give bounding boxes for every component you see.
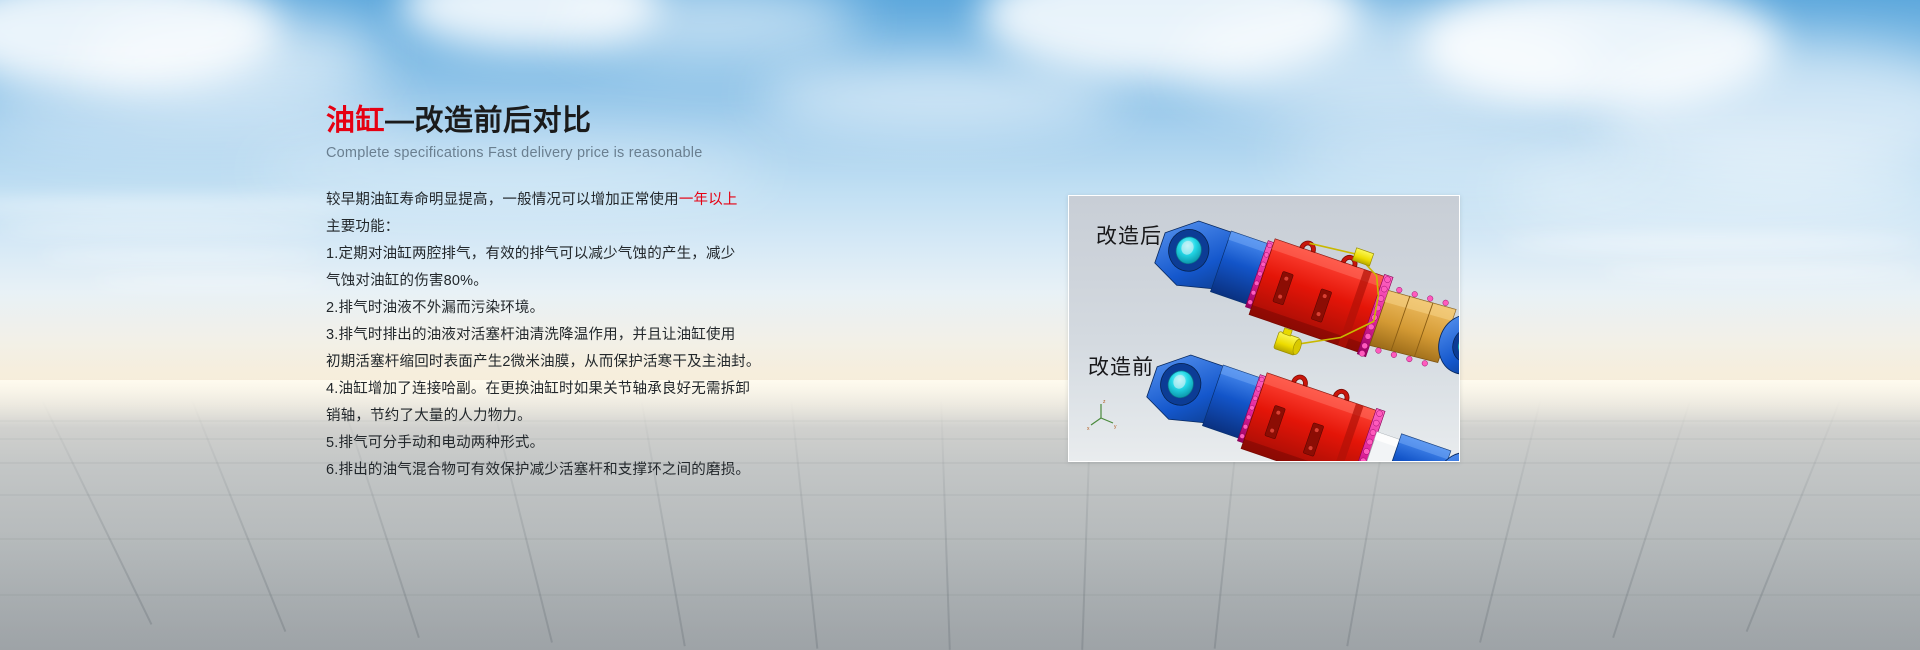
- banner-text-block: 油缸—改造前后对比 Complete specifications Fast d…: [326, 104, 846, 484]
- plaza-ground: [0, 380, 1920, 650]
- product-image-panel[interactable]: z x y 改造后 改造前: [1068, 195, 1460, 462]
- functions-heading: 主要功能：: [326, 214, 846, 241]
- feature-description: 较早期油缸寿命明显提高，一般情况可以增加正常使用一年以上 主要功能： 1.定期对…: [326, 187, 846, 484]
- list-item-cont: 销轴，节约了大量的人力物力。: [326, 403, 846, 430]
- intro-line: 较早期油缸寿命明显提高，一般情况可以增加正常使用一年以上: [326, 187, 846, 214]
- tile-line-horizontal: [0, 420, 1920, 422]
- list-item: 3.排气时排出的油液对活塞杆油清洗降温作用，并且让油缸使用: [326, 322, 846, 349]
- label-before-modification: 改造前: [1088, 351, 1154, 381]
- svg-text:z: z: [1103, 399, 1106, 405]
- svg-text:x: x: [1087, 426, 1090, 432]
- page-title-highlight: 油缸: [326, 105, 385, 137]
- page-title-rest: —改造前后对比: [385, 105, 592, 137]
- banner-stage: 油缸—改造前后对比 Complete specifications Fast d…: [0, 0, 1920, 650]
- intro-highlight: 一年以上: [679, 192, 738, 208]
- tile-line-horizontal: [0, 438, 1920, 440]
- list-item: 1.定期对油缸两腔排气，有效的排气可以减少气蚀的产生，减少: [326, 241, 846, 268]
- list-item-cont: 气蚀对油缸的伤害80%。: [326, 268, 846, 295]
- list-item: 2.排气时油液不外漏而污染环境。: [326, 295, 846, 322]
- tile-line-horizontal: [0, 494, 1920, 496]
- svg-text:y: y: [1114, 424, 1117, 430]
- list-item: 4.油缸增加了连接哈副。在更换油缸时如果关节轴承良好无需拆卸: [326, 376, 846, 403]
- page-title: 油缸—改造前后对比: [326, 104, 846, 139]
- list-item: 6.排出的油气混合物可有效保护减少活塞杆和支撑环之间的磨损。: [326, 457, 846, 484]
- sky-background: [0, 0, 1920, 395]
- list-item: 5.排气可分手动和电动两种形式。: [326, 430, 846, 457]
- tile-line-horizontal: [0, 462, 1920, 464]
- intro-text: 较早期油缸寿命明显提高，一般情况可以增加正常使用: [326, 192, 679, 208]
- ground-vignette: [0, 530, 1920, 650]
- coordinate-axis-icon: z x y: [1087, 399, 1117, 432]
- list-item-cont: 初期活塞杆缩回时表面产生2微米油膜，从而保护活寒干及主油封。: [326, 349, 846, 376]
- label-after-modification: 改造后: [1096, 220, 1162, 250]
- page-subtitle: Complete specifications Fast delivery pr…: [326, 145, 846, 161]
